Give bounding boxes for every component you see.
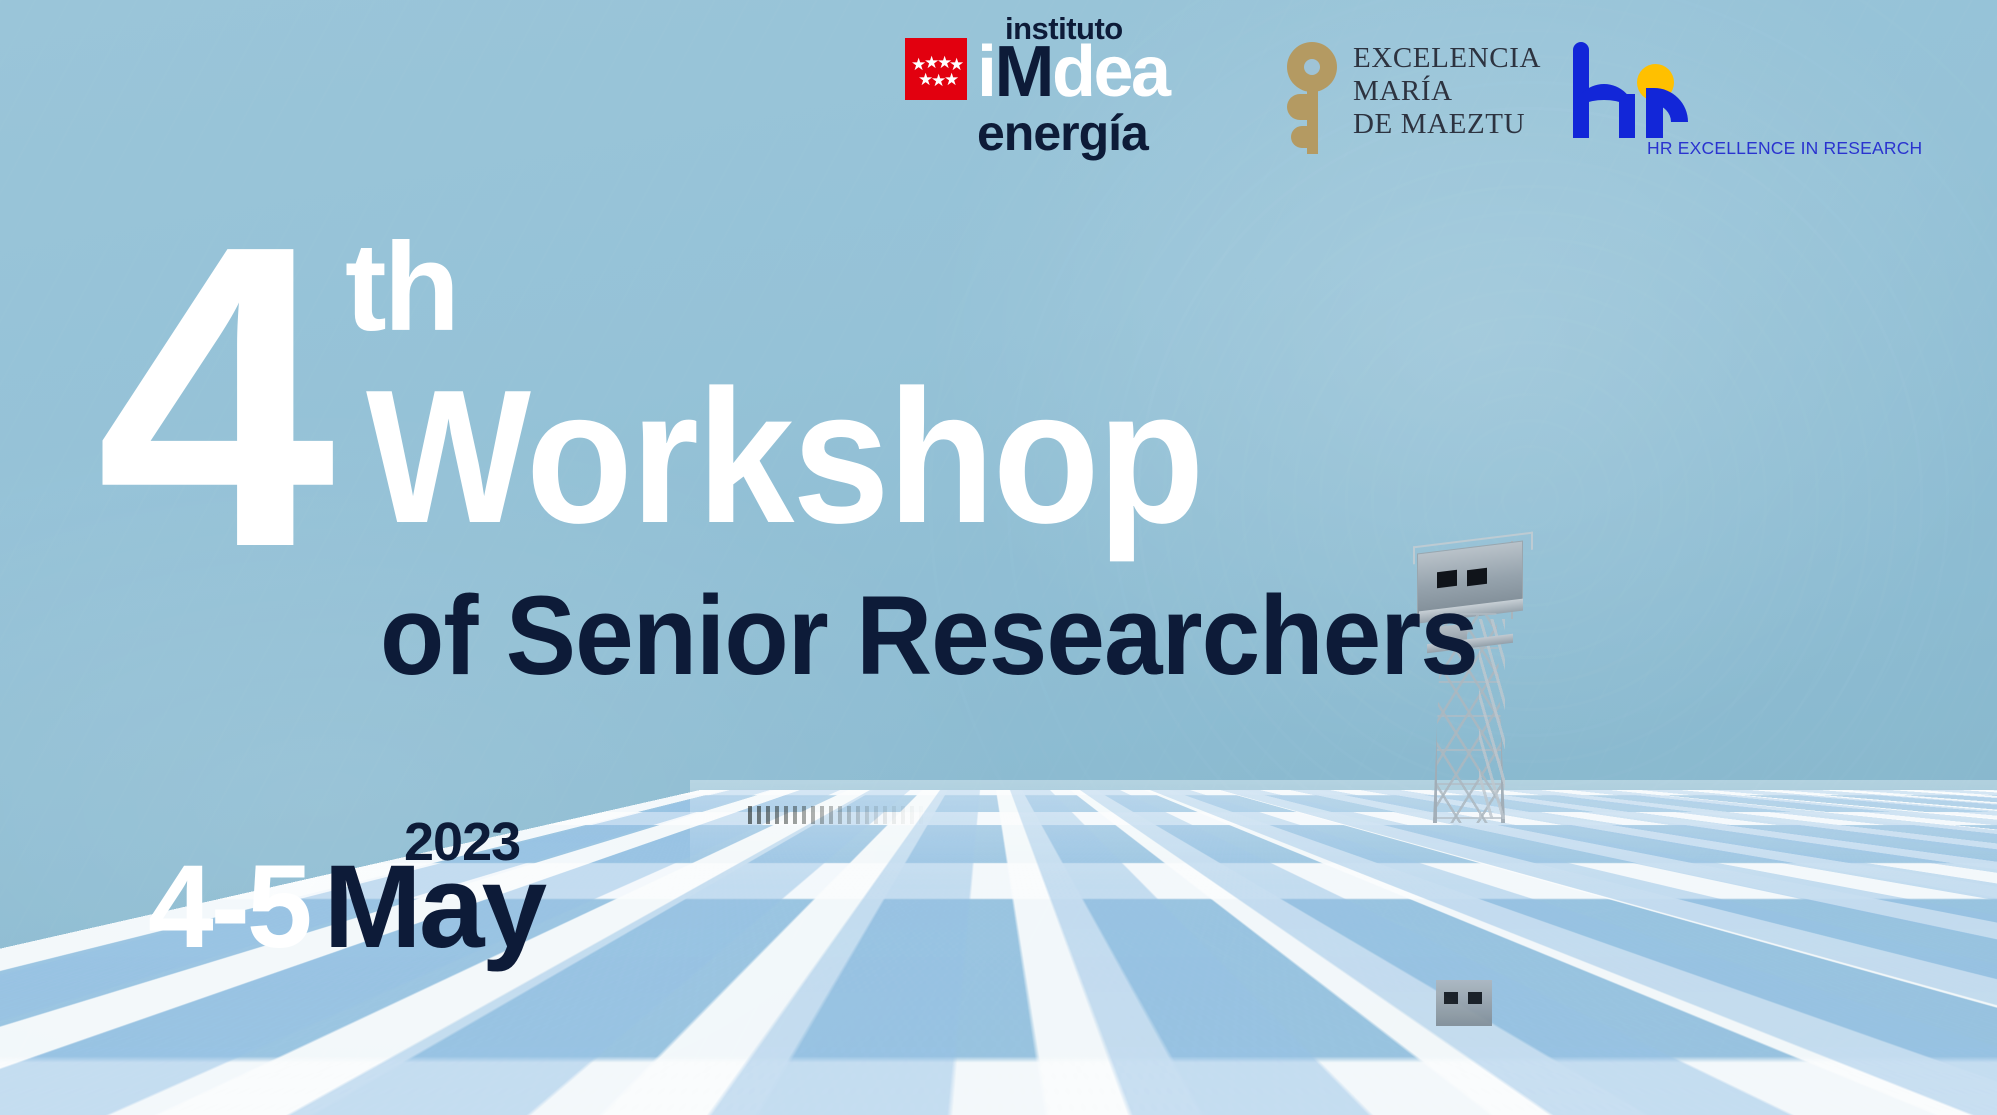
key-hole	[1304, 59, 1320, 75]
reflection-aperture-left	[1444, 992, 1458, 1004]
key-bit-upper	[1287, 94, 1309, 120]
imdea-letter-m: M	[995, 43, 1052, 102]
imdea-letter-i: i	[977, 43, 995, 102]
page-title: Workshop	[366, 362, 1203, 552]
reflection-aperture-right	[1468, 992, 1482, 1004]
sponsor-logo-bar: ★ ★ ★ ★ ★ ★ ★ instituto iMdea energía	[905, 38, 1861, 160]
heliostat-mirror-tiles	[434, 690, 1997, 790]
maeztu-line-2: MARÍA	[1353, 75, 1541, 108]
imdea-energia-logo[interactable]: ★ ★ ★ ★ ★ ★ ★ instituto iMdea energía	[905, 38, 1257, 158]
maeztu-key-icon	[1287, 42, 1337, 154]
event-date: 4-5 May	[148, 848, 544, 966]
hr-excellence-logo[interactable]: HR EXCELLENCE IN RESEARCH	[1571, 38, 1861, 160]
flag-star: ★	[944, 71, 959, 88]
poster-canvas: ★ ★ ★ ★ ★ ★ ★ instituto iMdea energía	[0, 0, 1997, 1115]
event-days: 4-5	[148, 848, 310, 966]
maeztu-line-3: DE MAEZTU	[1353, 108, 1541, 141]
hr-letter-h-leg	[1619, 94, 1635, 138]
maria-de-maeztu-logo[interactable]: EXCELENCIA MARÍA DE MAEZTU	[1287, 38, 1541, 154]
mirror-reflection-of-receiver	[1436, 980, 1492, 1026]
imdea-letters-dea: dea	[1052, 43, 1169, 102]
event-month: May	[324, 848, 545, 966]
key-bit-lower	[1291, 126, 1309, 148]
hr-excellence-tagline: HR EXCELLENCE IN RESEARCH	[1647, 138, 1922, 159]
page-subtitle: of Senior Researchers	[380, 580, 1478, 692]
maeztu-text-block: EXCELENCIA MARÍA DE MAEZTU	[1353, 42, 1541, 141]
ordinal-number: 4	[96, 182, 317, 612]
heliostat-grid	[434, 690, 1997, 790]
distant-treeline	[748, 806, 928, 824]
hr-letter-r-arch	[1646, 88, 1688, 122]
ordinal-suffix: th	[345, 225, 457, 350]
madrid-flag-icon: ★ ★ ★ ★ ★ ★ ★	[905, 38, 967, 100]
imdea-energia-label: energía	[977, 108, 1257, 158]
imdea-instituto-label: instituto	[1005, 11, 1123, 47]
maeztu-line-1: EXCELENCIA	[1353, 42, 1541, 75]
tower-staircase	[1479, 619, 1505, 819]
